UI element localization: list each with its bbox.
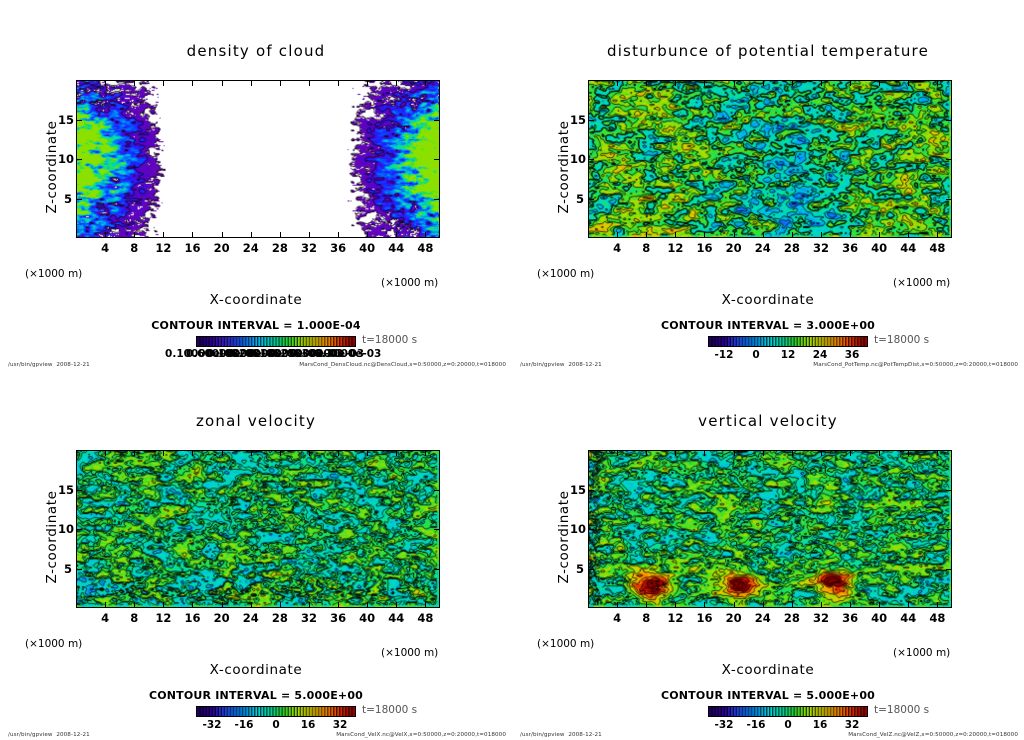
x-tick-top bbox=[105, 450, 106, 456]
x-tick-label: 12 bbox=[155, 241, 171, 255]
x-axis-unit-right: (×1000 m) bbox=[893, 277, 950, 289]
x-axis-title: X-coordinate bbox=[0, 292, 512, 308]
x-tick bbox=[850, 232, 851, 238]
footer-program: /usr/bin/gpview 2008-12-21 bbox=[520, 732, 602, 738]
x-tick-top bbox=[396, 80, 397, 86]
x-axis-unit-left: (×1000 m) bbox=[537, 638, 594, 650]
x-tick-label: 48 bbox=[929, 241, 945, 255]
y-axis-title: Z-coordinate bbox=[556, 77, 572, 257]
x-tick bbox=[251, 232, 252, 238]
y-tick-right bbox=[434, 199, 440, 200]
colorbar[interactable] bbox=[196, 706, 356, 717]
y-tick-right bbox=[946, 529, 952, 530]
plot-area[interactable] bbox=[588, 80, 952, 238]
y-tick bbox=[76, 159, 82, 160]
x-axis-title: X-coordinate bbox=[512, 662, 1024, 678]
x-tick bbox=[850, 602, 851, 608]
x-tick-top bbox=[792, 450, 793, 456]
x-tick-top bbox=[163, 80, 164, 86]
colorbar-canvas bbox=[709, 707, 867, 716]
footer-source: MarsCond_VelZ.nc@VelZ,x=0:50000,z=0:2000… bbox=[848, 732, 1018, 738]
x-tick-label: 48 bbox=[929, 611, 945, 625]
x-tick-top bbox=[251, 80, 252, 86]
x-tick-top bbox=[280, 80, 281, 86]
x-tick bbox=[280, 232, 281, 238]
x-tick-label: 24 bbox=[755, 241, 771, 255]
y-tick-right bbox=[434, 490, 440, 491]
contour-plot-canvas bbox=[77, 451, 439, 607]
x-tick-label: 8 bbox=[130, 241, 138, 255]
x-tick-label: 12 bbox=[667, 611, 683, 625]
x-tick-top bbox=[908, 450, 909, 456]
x-axis-title: X-coordinate bbox=[512, 292, 1024, 308]
colorbar-tick-label: -16 bbox=[747, 719, 766, 731]
colorbar-tick-label: 0 bbox=[752, 349, 759, 361]
x-tick-top bbox=[792, 80, 793, 86]
x-tick bbox=[792, 602, 793, 608]
y-tick-right bbox=[946, 569, 952, 570]
x-axis-unit-right: (×1000 m) bbox=[893, 647, 950, 659]
y-tick-right bbox=[434, 529, 440, 530]
colorbar-canvas bbox=[197, 337, 355, 346]
x-tick bbox=[163, 602, 164, 608]
x-tick bbox=[367, 602, 368, 608]
x-tick-label: 20 bbox=[214, 241, 230, 255]
x-tick-top bbox=[192, 450, 193, 456]
x-tick-top bbox=[675, 450, 676, 456]
x-tick-label: 40 bbox=[359, 611, 375, 625]
x-tick bbox=[425, 602, 426, 608]
x-tick-label: 4 bbox=[101, 611, 109, 625]
panel-title: density of cloud bbox=[0, 42, 512, 60]
colorbar-tick-label: 0 bbox=[272, 719, 279, 731]
x-tick-label: 44 bbox=[900, 611, 916, 625]
y-tick-label: 15 bbox=[570, 483, 584, 497]
x-tick bbox=[134, 232, 135, 238]
colorbar-tick-label: 16 bbox=[301, 719, 316, 731]
x-tick bbox=[192, 232, 193, 238]
x-tick-top bbox=[763, 80, 764, 86]
y-axis-title: Z-coordinate bbox=[44, 77, 60, 257]
x-tick-label: 12 bbox=[155, 611, 171, 625]
contour-interval-label: CONTOUR INTERVAL = 5.000E+00 bbox=[0, 689, 512, 702]
panel-title: zonal velocity bbox=[0, 412, 512, 430]
y-tick bbox=[588, 529, 594, 530]
colorbar-canvas bbox=[709, 337, 867, 346]
x-tick bbox=[309, 232, 310, 238]
y-tick bbox=[76, 199, 82, 200]
x-tick-top bbox=[425, 450, 426, 456]
colorbar-tick-label: -16 bbox=[235, 719, 254, 731]
y-tick-right bbox=[946, 120, 952, 121]
colorbar-tick-label: 0.3000e-03 bbox=[315, 348, 382, 360]
y-tick-right bbox=[946, 159, 952, 160]
x-tick-top bbox=[309, 80, 310, 86]
x-tick-top bbox=[134, 80, 135, 86]
x-tick-top bbox=[821, 80, 822, 86]
x-axis-unit-left: (×1000 m) bbox=[537, 268, 594, 280]
y-tick-label: 10 bbox=[570, 152, 584, 166]
x-tick bbox=[704, 232, 705, 238]
colorbar-tick-label: -12 bbox=[715, 349, 734, 361]
x-tick bbox=[734, 602, 735, 608]
x-tick-label: 8 bbox=[642, 241, 650, 255]
x-tick bbox=[425, 232, 426, 238]
colorbar-ticklabels: -32-1601632 bbox=[0, 719, 512, 733]
y-tick-right bbox=[946, 199, 952, 200]
x-tick bbox=[821, 602, 822, 608]
y-tick bbox=[588, 199, 594, 200]
x-tick-label: 24 bbox=[243, 241, 259, 255]
x-tick-label: 4 bbox=[613, 241, 621, 255]
x-tick-label: 16 bbox=[184, 241, 200, 255]
y-tick-label: 15 bbox=[58, 113, 72, 127]
x-tick-label: 12 bbox=[667, 241, 683, 255]
y-tick-right bbox=[434, 569, 440, 570]
plot-area[interactable] bbox=[76, 450, 440, 608]
x-tick bbox=[763, 602, 764, 608]
x-tick bbox=[734, 232, 735, 238]
timestamp-label: t=18000 s bbox=[874, 334, 929, 346]
panel-density-of-cloud: density of cloud 4812162024283236404448 … bbox=[0, 0, 512, 370]
y-tick-label: 5 bbox=[570, 562, 584, 576]
x-tick bbox=[280, 602, 281, 608]
x-tick bbox=[309, 602, 310, 608]
y-tick bbox=[76, 490, 82, 491]
y-tick bbox=[588, 159, 594, 160]
contour-plot-canvas bbox=[77, 81, 439, 237]
x-axis-unit-right: (×1000 m) bbox=[381, 277, 438, 289]
plot-area[interactable] bbox=[588, 450, 952, 608]
x-tick-label: 20 bbox=[214, 611, 230, 625]
x-tick-label: 44 bbox=[388, 611, 404, 625]
x-tick bbox=[222, 602, 223, 608]
colorbar-tick-label: -32 bbox=[203, 719, 222, 731]
y-axis-title: Z-coordinate bbox=[44, 447, 60, 627]
x-tick-top bbox=[937, 450, 938, 456]
colorbar-tick-label: 32 bbox=[845, 719, 860, 731]
x-tick-label: 32 bbox=[301, 241, 317, 255]
x-tick-label: 28 bbox=[784, 611, 800, 625]
colorbar-tick-label: 36 bbox=[845, 349, 860, 361]
y-tick bbox=[588, 120, 594, 121]
x-tick-top bbox=[675, 80, 676, 86]
panel-zonal-velocity: zonal velocity 4812162024283236404448 51… bbox=[0, 370, 512, 740]
timestamp-label: t=18000 s bbox=[362, 704, 417, 716]
panel-title: vertical velocity bbox=[512, 412, 1024, 430]
colorbar-tick-label: -32 bbox=[715, 719, 734, 731]
x-tick bbox=[396, 232, 397, 238]
colorbar-canvas bbox=[197, 707, 355, 716]
footer-source: MarsCond_VelX.nc@VelX,x=0:50000,z=0:2000… bbox=[336, 732, 506, 738]
x-tick-top bbox=[163, 450, 164, 456]
x-tick-top bbox=[821, 450, 822, 456]
x-tick-top bbox=[338, 80, 339, 86]
x-tick bbox=[105, 602, 106, 608]
y-tick-label: 10 bbox=[58, 522, 72, 536]
x-tick-top bbox=[425, 80, 426, 86]
x-tick-top bbox=[367, 80, 368, 86]
x-tick-top bbox=[309, 450, 310, 456]
y-tick bbox=[76, 569, 82, 570]
x-tick-label: 24 bbox=[243, 611, 259, 625]
x-tick bbox=[704, 602, 705, 608]
x-tick-label: 4 bbox=[613, 611, 621, 625]
y-tick-label: 15 bbox=[570, 113, 584, 127]
x-tick bbox=[617, 232, 618, 238]
x-axis-unit-right: (×1000 m) bbox=[381, 647, 438, 659]
y-tick-right bbox=[434, 159, 440, 160]
x-tick bbox=[617, 602, 618, 608]
x-tick-label: 16 bbox=[696, 611, 712, 625]
y-tick bbox=[76, 529, 82, 530]
x-tick bbox=[338, 232, 339, 238]
x-tick-label: 48 bbox=[417, 611, 433, 625]
x-tick-top bbox=[134, 450, 135, 456]
x-tick-label: 16 bbox=[184, 611, 200, 625]
x-tick-label: 20 bbox=[726, 611, 742, 625]
x-tick-top bbox=[879, 80, 880, 86]
x-tick-label: 20 bbox=[726, 241, 742, 255]
x-tick-label: 40 bbox=[871, 611, 887, 625]
y-tick-label: 10 bbox=[570, 522, 584, 536]
x-tick-top bbox=[850, 80, 851, 86]
footer-source: MarsCond_PotTemp.nc@PotTempDist,x=0:5000… bbox=[813, 362, 1018, 368]
x-tick-label: 32 bbox=[813, 611, 829, 625]
colorbar[interactable] bbox=[708, 336, 868, 347]
y-tick bbox=[588, 569, 594, 570]
x-axis-title: X-coordinate bbox=[0, 662, 512, 678]
x-tick-top bbox=[251, 450, 252, 456]
x-tick bbox=[792, 232, 793, 238]
x-tick-label: 32 bbox=[301, 611, 317, 625]
x-tick-label: 4 bbox=[101, 241, 109, 255]
footer-program: /usr/bin/gpview 2008-12-21 bbox=[8, 362, 90, 368]
x-tick bbox=[879, 232, 880, 238]
y-tick-label: 10 bbox=[58, 152, 72, 166]
x-tick bbox=[367, 232, 368, 238]
x-tick bbox=[675, 602, 676, 608]
x-tick-label: 36 bbox=[330, 241, 346, 255]
x-axis-unit-left: (×1000 m) bbox=[25, 268, 82, 280]
x-tick-label: 28 bbox=[784, 241, 800, 255]
y-tick-right bbox=[946, 490, 952, 491]
y-tick-label: 15 bbox=[58, 483, 72, 497]
contour-plot-canvas bbox=[589, 81, 951, 237]
y-tick bbox=[76, 120, 82, 121]
x-tick bbox=[821, 232, 822, 238]
x-tick-top bbox=[396, 450, 397, 456]
x-tick-top bbox=[280, 450, 281, 456]
x-tick-label: 8 bbox=[642, 611, 650, 625]
x-tick bbox=[763, 232, 764, 238]
x-tick-label: 24 bbox=[755, 611, 771, 625]
x-tick bbox=[675, 232, 676, 238]
timestamp-label: t=18000 s bbox=[362, 334, 417, 346]
x-tick-top bbox=[908, 80, 909, 86]
x-tick bbox=[163, 232, 164, 238]
x-tick bbox=[646, 602, 647, 608]
y-tick-label: 5 bbox=[570, 192, 584, 206]
x-tick-label: 36 bbox=[842, 241, 858, 255]
x-tick-top bbox=[105, 80, 106, 86]
x-tick bbox=[251, 602, 252, 608]
x-tick bbox=[134, 602, 135, 608]
colorbar[interactable] bbox=[196, 336, 356, 347]
footer-program: /usr/bin/gpview 2008-12-21 bbox=[520, 362, 602, 368]
contour-plot-canvas bbox=[589, 451, 951, 607]
x-tick-top bbox=[850, 450, 851, 456]
x-tick bbox=[908, 602, 909, 608]
x-tick-label: 16 bbox=[696, 241, 712, 255]
y-tick bbox=[588, 490, 594, 491]
colorbar-ticklabels: 0.10000e-030.60000e-030.10000e-030.20000… bbox=[0, 348, 512, 361]
colorbar-tick-label: 16 bbox=[813, 719, 828, 731]
x-tick-top bbox=[222, 450, 223, 456]
y-axis-title: Z-coordinate bbox=[556, 447, 572, 627]
colorbar-tick-label: 32 bbox=[333, 719, 348, 731]
y-tick-label: 5 bbox=[58, 562, 72, 576]
x-tick bbox=[879, 602, 880, 608]
x-tick bbox=[937, 602, 938, 608]
x-tick bbox=[396, 602, 397, 608]
panel-title: disturbunce of potential temperature bbox=[512, 42, 1024, 60]
y-tick-label: 5 bbox=[58, 192, 72, 206]
panel-disturbance-of-potential-temperature: disturbunce of potential temperature 481… bbox=[512, 0, 1024, 370]
x-tick-top bbox=[734, 80, 735, 86]
x-tick bbox=[222, 232, 223, 238]
footer-source: MarsCond_DensCloud.nc@DensCloud,x=0:5000… bbox=[299, 362, 506, 368]
x-tick-label: 40 bbox=[871, 241, 887, 255]
colorbar-tick-label: 0 bbox=[784, 719, 791, 731]
x-tick bbox=[646, 232, 647, 238]
x-axis-unit-left: (×1000 m) bbox=[25, 638, 82, 650]
x-tick-top bbox=[763, 450, 764, 456]
x-tick-label: 40 bbox=[359, 241, 375, 255]
colorbar-tick-label: 24 bbox=[813, 349, 828, 361]
timestamp-label: t=18000 s bbox=[874, 704, 929, 716]
x-tick-top bbox=[338, 450, 339, 456]
x-tick-top bbox=[646, 80, 647, 86]
colorbar-tick-label: 12 bbox=[781, 349, 796, 361]
contour-interval-label: CONTOUR INTERVAL = 5.000E+00 bbox=[512, 689, 1024, 702]
x-tick-label: 44 bbox=[900, 241, 916, 255]
x-tick-top bbox=[617, 80, 618, 86]
x-tick-label: 8 bbox=[130, 611, 138, 625]
plot-area[interactable] bbox=[76, 80, 440, 238]
y-tick-right bbox=[434, 120, 440, 121]
x-tick-label: 36 bbox=[330, 611, 346, 625]
x-tick-top bbox=[192, 80, 193, 86]
x-tick-top bbox=[879, 450, 880, 456]
x-tick-label: 36 bbox=[842, 611, 858, 625]
x-tick bbox=[192, 602, 193, 608]
colorbar-ticklabels: -32-1601632 bbox=[512, 719, 1024, 733]
x-tick-label: 28 bbox=[272, 241, 288, 255]
contour-interval-label: CONTOUR INTERVAL = 1.000E-04 bbox=[0, 319, 512, 332]
x-tick-top bbox=[617, 450, 618, 456]
colorbar-ticklabels: -120122436 bbox=[512, 349, 1024, 363]
x-tick bbox=[105, 232, 106, 238]
x-tick-top bbox=[222, 80, 223, 86]
x-tick-top bbox=[704, 80, 705, 86]
x-tick-top bbox=[937, 80, 938, 86]
x-tick-label: 32 bbox=[813, 241, 829, 255]
footer-program: /usr/bin/gpview 2008-12-21 bbox=[8, 732, 90, 738]
colorbar[interactable] bbox=[708, 706, 868, 717]
x-tick-label: 48 bbox=[417, 241, 433, 255]
x-tick-top bbox=[734, 450, 735, 456]
x-tick-top bbox=[704, 450, 705, 456]
x-tick bbox=[338, 602, 339, 608]
x-tick bbox=[937, 232, 938, 238]
x-tick-label: 28 bbox=[272, 611, 288, 625]
x-tick-label: 44 bbox=[388, 241, 404, 255]
x-tick-top bbox=[367, 450, 368, 456]
x-tick bbox=[908, 232, 909, 238]
panel-vertical-velocity: vertical velocity 4812162024283236404448… bbox=[512, 370, 1024, 740]
x-tick-top bbox=[646, 450, 647, 456]
contour-interval-label: CONTOUR INTERVAL = 3.000E+00 bbox=[512, 319, 1024, 332]
